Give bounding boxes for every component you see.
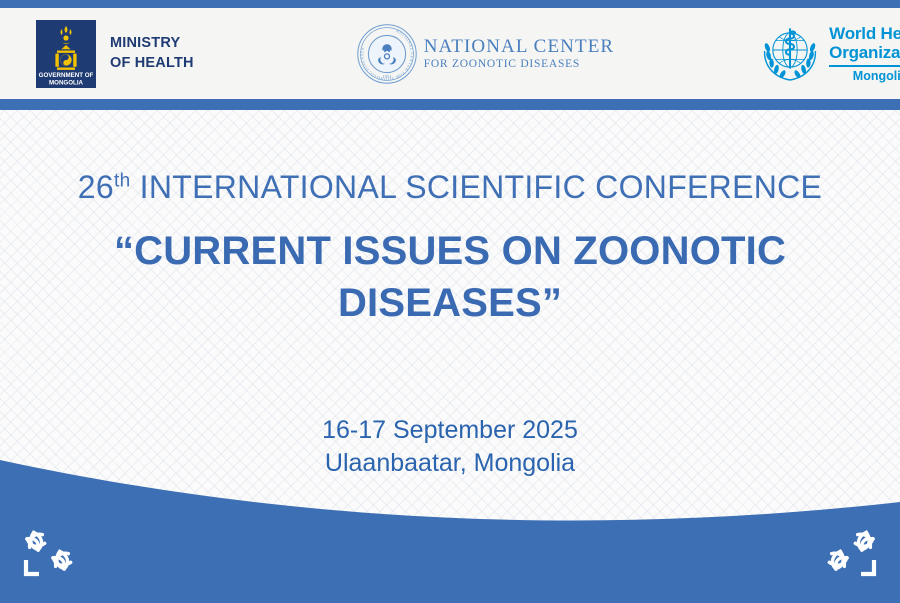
wave-blue-layer xyxy=(0,460,900,603)
event-dates: 16-17 September 2025 xyxy=(0,414,900,447)
mongolia-state-emblem-icon: GOVERNMENT OF MONGOLIA xyxy=(36,20,96,88)
state-emblem-caption-line2: MONGOLIA xyxy=(49,79,84,86)
national-center-name-line-1: NATIONAL CENTER xyxy=(424,36,614,57)
conference-number: 26 xyxy=(78,169,114,205)
ministry-of-health-logo: GOVERNMENT OF MONGOLIA MINISTRY OF HEALT… xyxy=(36,20,194,88)
zoonotic-seal-icon: NATIONAL CENTER FOR ZOONOTIC DISEASES 19… xyxy=(356,23,418,85)
header-divider-bar xyxy=(0,99,900,110)
mongolian-knot-ornament-right xyxy=(806,524,884,586)
state-emblem-caption-line1: GOVERNMENT OF xyxy=(39,72,94,79)
ministry-name-line-1: MINISTRY xyxy=(110,34,194,54)
national-center-name: NATIONAL CENTER FOR ZOONOTIC DISEASES xyxy=(424,36,614,70)
conference-theme: “CURRENT ISSUES ON ZOONOTIC DISEASES” xyxy=(0,226,900,328)
who-name-line-2: Organization xyxy=(829,43,900,62)
conference-heading-label: INTERNATIONAL SCIENTIFIC CONFERENCE xyxy=(140,169,823,205)
conference-theme-line-2: DISEASES” xyxy=(0,278,900,329)
national-center-logo: NATIONAL CENTER FOR ZOONOTIC DISEASES 19… xyxy=(356,23,614,85)
seal-year-text: 1951 xyxy=(382,74,391,79)
ministry-name-line-2: OF HEALTH xyxy=(110,54,194,74)
conference-heading: 26th INTERNATIONAL SCIENTIFIC CONFERENCE xyxy=(0,168,900,206)
mongolian-knot-ornament-left xyxy=(16,524,94,586)
partner-logo-row: GOVERNMENT OF MONGOLIA MINISTRY OF HEALT… xyxy=(0,8,900,99)
who-name-line-1: World Health xyxy=(829,24,900,43)
ministry-of-health-name: MINISTRY OF HEALTH xyxy=(110,34,194,73)
bottom-wave-decoration xyxy=(0,458,900,603)
who-logo: World Health Organization Mongolia xyxy=(759,23,900,85)
who-wordmark: World Health Organization Mongolia xyxy=(829,24,900,83)
conference-title-slide: GOVERNMENT OF MONGOLIA MINISTRY OF HEALT… xyxy=(0,0,900,603)
conference-theme-line-1: “CURRENT ISSUES ON ZOONOTIC xyxy=(0,226,900,277)
national-center-name-line-2: FOR ZOONOTIC DISEASES xyxy=(424,58,614,71)
conference-ordinal-suffix: th xyxy=(114,170,130,191)
top-accent-bar xyxy=(0,0,900,8)
who-emblem-icon xyxy=(759,23,821,85)
who-country-label: Mongolia xyxy=(829,69,900,83)
who-divider-rule xyxy=(829,65,900,67)
title-block: 26th INTERNATIONAL SCIENTIFIC CONFERENCE… xyxy=(0,168,900,329)
